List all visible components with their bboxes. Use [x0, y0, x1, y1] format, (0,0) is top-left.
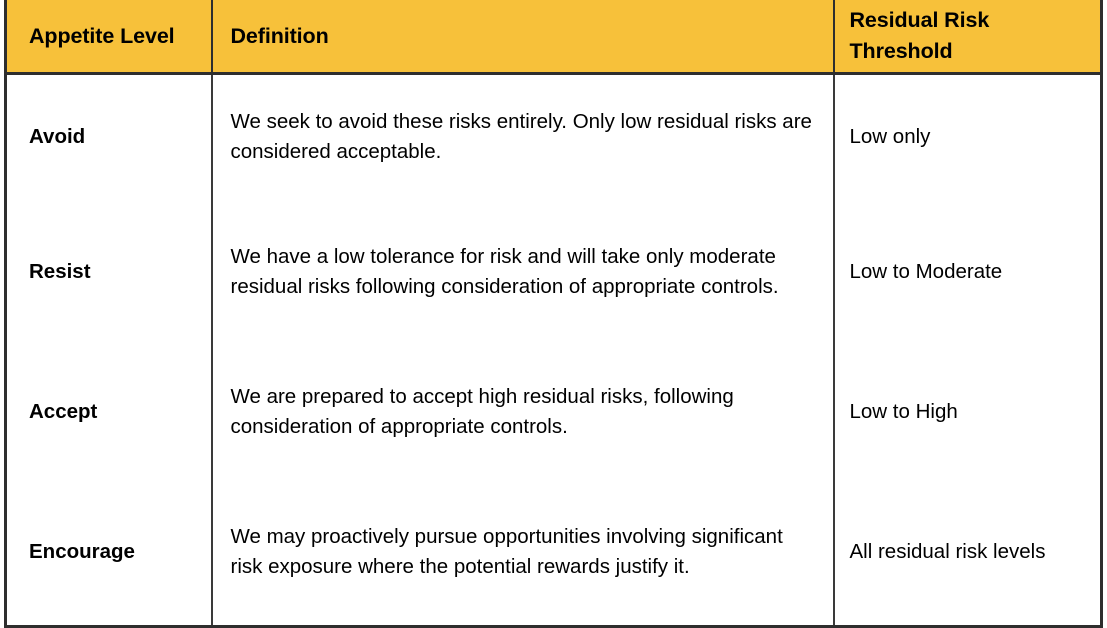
cell-definition: We may proactively pursue opportunities …	[212, 479, 834, 627]
table-body: Avoid We seek to avoid these risks entir…	[6, 74, 1102, 627]
cell-residual-risk-threshold: Low to Moderate	[834, 199, 1102, 345]
cell-appetite-level: Resist	[6, 199, 212, 345]
cell-definition: We seek to avoid these risks entirely. O…	[212, 74, 834, 200]
cell-definition: We have a low tolerance for risk and wil…	[212, 199, 834, 345]
table-row: Accept We are prepared to accept high re…	[6, 345, 1102, 479]
column-header-residual-risk-threshold: Residual Risk Threshold	[834, 0, 1102, 74]
column-header-appetite-level: Appetite Level	[6, 0, 212, 74]
column-header-residual-risk-threshold-line-2: Threshold	[850, 36, 1101, 67]
cell-residual-risk-threshold: Low to High	[834, 345, 1102, 479]
cell-residual-risk-threshold: Low only	[834, 74, 1102, 200]
table-header: Appetite Level Definition Residual Risk …	[6, 0, 1102, 74]
table-row: Resist We have a low tolerance for risk …	[6, 199, 1102, 345]
cell-appetite-level: Accept	[6, 345, 212, 479]
header-row: Appetite Level Definition Residual Risk …	[6, 0, 1102, 74]
cell-definition: We are prepared to accept high residual …	[212, 345, 834, 479]
risk-appetite-table-container: Appetite Level Definition Residual Risk …	[0, 0, 1107, 538]
cell-residual-risk-threshold: All residual risk levels	[834, 479, 1102, 627]
risk-appetite-table: Appetite Level Definition Residual Risk …	[4, 0, 1103, 628]
table-row: Avoid We seek to avoid these risks entir…	[6, 74, 1102, 200]
cell-appetite-level: Encourage	[6, 479, 212, 627]
table-row: Encourage We may proactively pursue oppo…	[6, 479, 1102, 627]
column-header-residual-risk-threshold-line-1: Residual Risk	[850, 5, 1101, 36]
cell-appetite-level: Avoid	[6, 74, 212, 200]
column-header-definition: Definition	[212, 0, 834, 74]
